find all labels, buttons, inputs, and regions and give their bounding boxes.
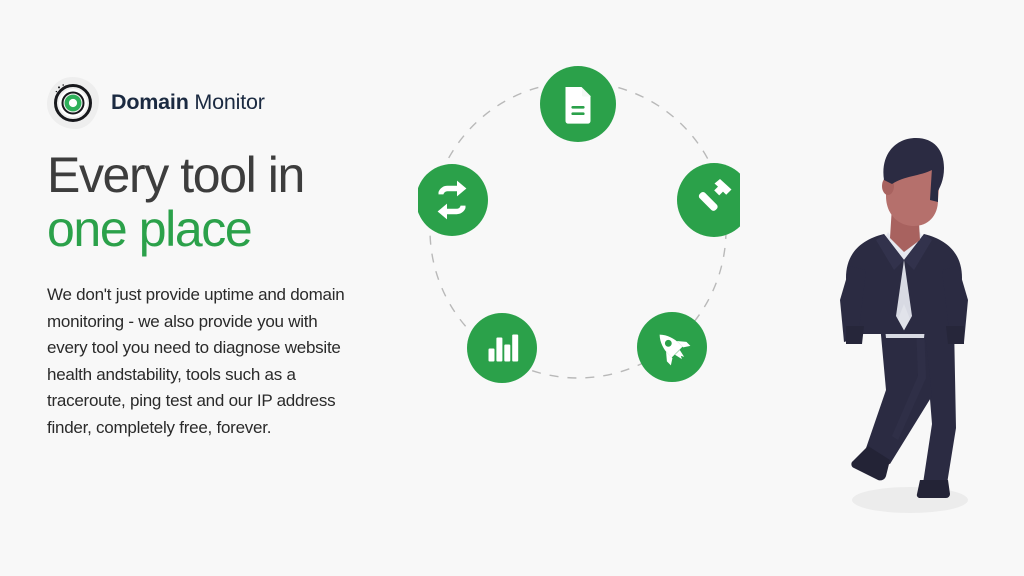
left-content-column: Domain Monitor Every tool in one place W… <box>47 76 377 441</box>
brand-name-bold: Domain <box>111 90 189 114</box>
bar-3 <box>504 345 510 362</box>
ring-node-circle <box>418 164 488 236</box>
shoe-back <box>917 480 950 498</box>
brand-lockup[interactable]: Domain Monitor <box>47 76 377 130</box>
brand-name: Domain Monitor <box>111 92 265 114</box>
bar-2 <box>496 338 502 362</box>
businessman-standing-illustration <box>828 128 1024 528</box>
headline-line-1: Every tool in <box>47 148 377 202</box>
headline-line-2: one place <box>47 202 377 256</box>
bar-1 <box>489 349 495 362</box>
ring-node-sync[interactable] <box>418 164 488 236</box>
ring-node-rocket[interactable] <box>637 312 707 382</box>
cuff-right <box>946 326 964 344</box>
figure-shadow <box>852 487 968 513</box>
ring-node-chart[interactable] <box>467 313 537 383</box>
slide-root: Domain Monitor Every tool in one place W… <box>0 0 1024 576</box>
page-title: Every tool in one place <box>47 148 377 256</box>
tools-ring-diagram <box>418 58 740 402</box>
bar-4 <box>512 335 518 362</box>
leg-back <box>922 324 956 490</box>
brand-name-light: Monitor <box>189 90 265 114</box>
bullseye-target-icon <box>47 77 99 129</box>
cuff-left <box>846 326 864 344</box>
ring-node-document[interactable] <box>540 66 616 142</box>
body-paragraph: We don't just provide uptime and domain … <box>47 282 359 441</box>
ring-node-hammer[interactable] <box>677 163 740 237</box>
